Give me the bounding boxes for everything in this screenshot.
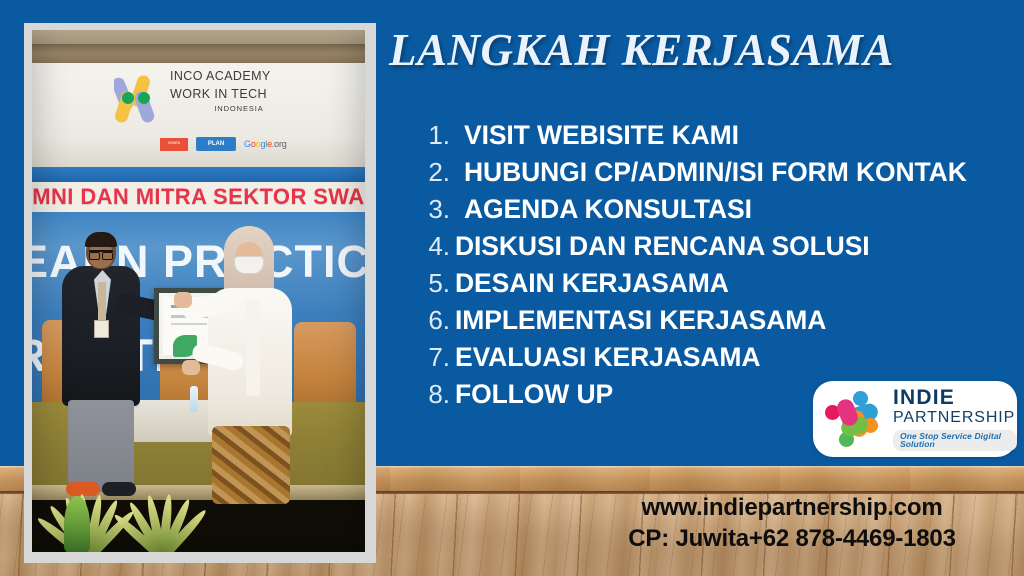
slide-canvas: INCO ACADEMY WORK IN TECH INDONESIA KEME…	[0, 0, 1024, 576]
logo-wordmark: INDIE PARTNERSHIP One Stop Service Digit…	[893, 387, 1017, 452]
list-item-number: 7.	[424, 342, 450, 373]
list-item-label: AGENDA KONSULTASI	[464, 194, 752, 225]
footer-website: www.indiepartnership.com	[560, 494, 1024, 522]
list-item-label: IMPLEMENTASI KERJASAMA	[455, 305, 826, 336]
event-photo: INCO ACADEMY WORK IN TECH INDONESIA KEME…	[32, 30, 365, 552]
list-item-label: HUBUNGI CP/ADMIN/ISI FORM KONTAK	[464, 157, 967, 188]
list-item-label: EVALUASI KERJASAMA	[455, 342, 760, 373]
list-item: 1. VISIT WEBISITE KAMI	[424, 120, 984, 157]
list-item-label: FOLLOW UP	[455, 379, 613, 410]
logo-tagline: One Stop Service Digital Solution	[893, 430, 1017, 451]
list-item-number: 2.	[424, 157, 450, 188]
list-item: 3. AGENDA KONSULTASI	[424, 194, 984, 231]
indie-partnership-mark-icon	[822, 388, 886, 450]
indie-partnership-logo-badge: INDIE PARTNERSHIP One Stop Service Digit…	[813, 381, 1017, 457]
photo-vignette	[32, 30, 365, 552]
list-item-label: DISKUSI DAN RENCANA SOLUSI	[455, 231, 870, 262]
list-item: 6. IMPLEMENTASI KERJASAMA	[424, 305, 984, 342]
logo-name-line1: INDIE	[893, 387, 1017, 408]
list-item: 4. DISKUSI DAN RENCANA SOLUSI	[424, 231, 984, 268]
list-item: 5. DESAIN KERJASAMA	[424, 268, 984, 305]
list-item-number: 1.	[424, 120, 450, 151]
list-item-number: 5.	[424, 268, 450, 299]
list-item: 7. EVALUASI KERJASAMA	[424, 342, 984, 379]
list-item-number: 8.	[424, 379, 450, 410]
list-item: 2. HUBUNGI CP/ADMIN/ISI FORM KONTAK	[424, 157, 984, 194]
footer-contact-block: www.indiepartnership.com CP: Juwita+62 8…	[560, 494, 1024, 553]
logo-name-line2: PARTNERSHIP	[893, 410, 1017, 426]
list-item-number: 6.	[424, 305, 450, 336]
list-item-number: 3.	[424, 194, 450, 225]
list-item-label: VISIT WEBISITE KAMI	[464, 120, 739, 151]
list-item-label: DESAIN KERJASAMA	[455, 268, 729, 299]
event-photo-frame: INCO ACADEMY WORK IN TECH INDONESIA KEME…	[24, 23, 376, 563]
steps-list: 1. VISIT WEBISITE KAMI 2. HUBUNGI CP/ADM…	[424, 120, 984, 416]
list-item-number: 4.	[424, 231, 450, 262]
page-title: LANGKAH KERJASAMA	[389, 28, 894, 73]
footer-phone: CP: Juwita+62 878-4469-1803	[560, 525, 1024, 553]
